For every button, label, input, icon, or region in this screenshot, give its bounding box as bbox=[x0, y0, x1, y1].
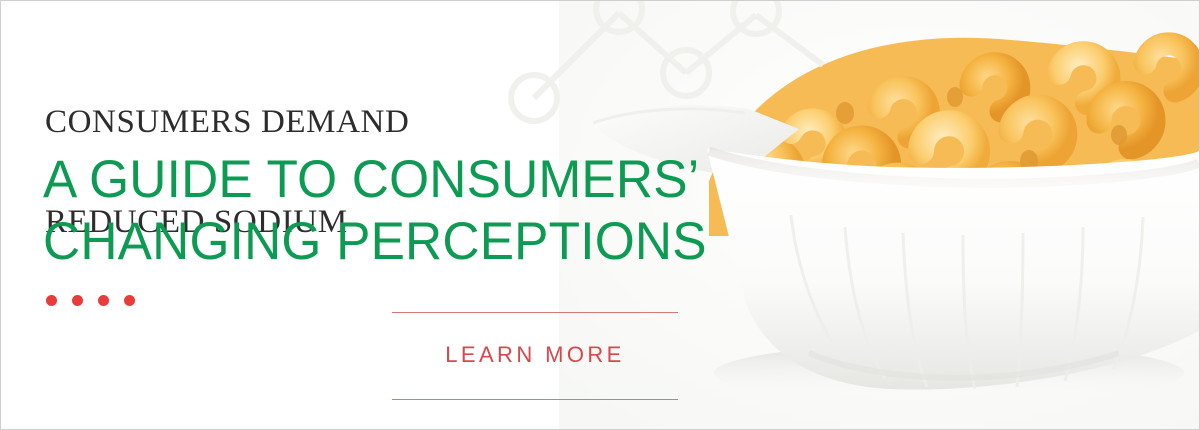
eyebrow-line-1: CONSUMERS DEMAND bbox=[45, 97, 685, 147]
headline-line-1: A GUIDE TO CONSUMERS’ bbox=[43, 149, 703, 211]
learn-more-button[interactable]: LEARN MORE bbox=[392, 312, 678, 400]
headline-line-2: CHANGING PERCEPTIONS bbox=[43, 211, 703, 273]
decorative-dots bbox=[46, 295, 135, 306]
dot bbox=[124, 295, 135, 306]
dot bbox=[72, 295, 83, 306]
text-column: CONSUMERS DEMAND REDUCED SODIUM A GUIDE … bbox=[1, 1, 721, 430]
cta-rule-bottom bbox=[392, 399, 678, 400]
dot bbox=[46, 295, 57, 306]
promo-banner: CONSUMERS DEMAND REDUCED SODIUM A GUIDE … bbox=[0, 0, 1200, 430]
learn-more-label: LEARN MORE bbox=[392, 342, 678, 368]
cta-rule-top bbox=[392, 312, 678, 313]
page-title: A GUIDE TO CONSUMERS’ CHANGING PERCEPTIO… bbox=[43, 149, 703, 273]
dot bbox=[98, 295, 109, 306]
